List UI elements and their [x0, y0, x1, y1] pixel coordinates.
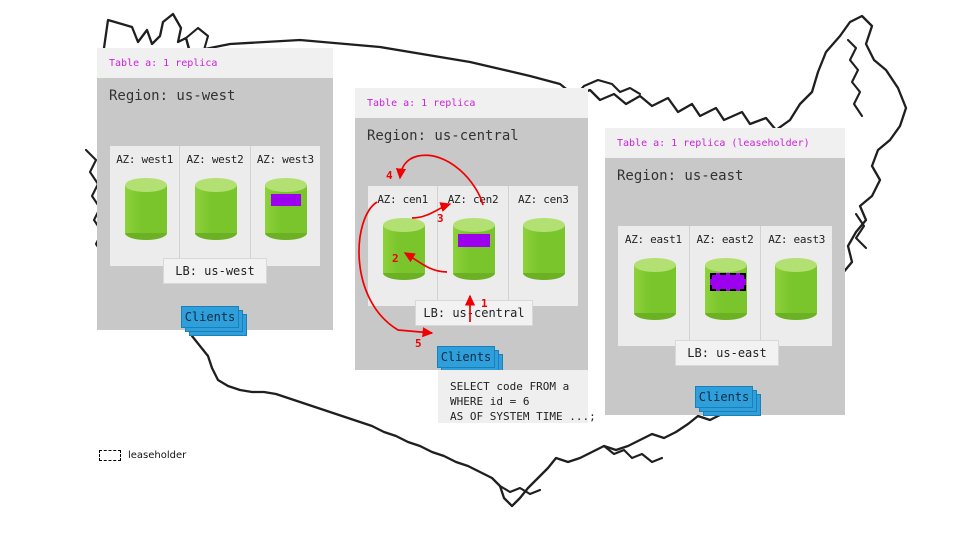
- clients-us-east[interactable]: Clients: [695, 386, 763, 418]
- cylinder-shine: [195, 185, 211, 233]
- legend-leaseholder: leaseholder: [99, 450, 186, 461]
- cylinder-east1[interactable]: [634, 258, 676, 320]
- replica-banner-us-east: Table a: 1 replica (leaseholder): [605, 128, 845, 158]
- clients-card-front[interactable]: Clients: [181, 306, 239, 328]
- cylinder-top: [125, 178, 167, 192]
- az-cell-west1[interactable]: AZ: west1: [110, 146, 180, 266]
- region-title-us-central: Region: us-central: [355, 118, 588, 144]
- diagram-canvas: Table a: 1 replica Region: us-west AZ: w…: [0, 0, 960, 540]
- arrow-number-2: 2: [392, 252, 399, 265]
- cylinder-top: [265, 178, 307, 192]
- cylinder-west1[interactable]: [125, 178, 167, 240]
- az-label-west2: AZ: west2: [180, 146, 249, 166]
- replica-banner-label: Table a: 1 replica (leaseholder): [605, 138, 810, 149]
- sql-query-box: SELECT code FROM a WHERE id = 6 AS OF SY…: [438, 370, 588, 423]
- region-title-us-west: Region: us-west: [97, 78, 333, 104]
- region-panel-us-east: Table a: 1 replica (leaseholder) Region:…: [605, 128, 845, 415]
- cylinder-top: [523, 218, 565, 232]
- replica-chunk-west3[interactable]: [271, 194, 301, 206]
- replica-banner-us-west: Table a: 1 replica: [97, 48, 333, 78]
- clients-us-west[interactable]: Clients: [181, 306, 249, 338]
- az-label-cen2: AZ: cen2: [438, 186, 507, 206]
- az-label-west3: AZ: west3: [251, 146, 320, 166]
- cylinder-west2[interactable]: [195, 178, 237, 240]
- az-cell-west2[interactable]: AZ: west2: [180, 146, 250, 266]
- cylinder-cen1[interactable]: [383, 218, 425, 280]
- cylinder-top: [195, 178, 237, 192]
- load-balancer-us-west[interactable]: LB: us-west: [163, 258, 267, 284]
- az-cell-cen1[interactable]: AZ: cen1: [368, 186, 438, 306]
- region-panel-us-west: Table a: 1 replica Region: us-west AZ: w…: [97, 48, 333, 330]
- cylinder-shine: [453, 225, 469, 273]
- cylinder-top: [453, 218, 495, 232]
- az-label-east3: AZ: east3: [761, 226, 832, 246]
- arrow-number-3: 3: [437, 212, 444, 225]
- cylinder-cen2[interactable]: [453, 218, 495, 280]
- az-container-us-east: AZ: east1 AZ: east2: [618, 226, 832, 346]
- cylinder-shine: [523, 225, 539, 273]
- cylinder-shine: [125, 185, 141, 233]
- az-label-cen3: AZ: cen3: [509, 186, 578, 206]
- region-body-us-central: Region: us-central AZ: cen1 AZ: cen2: [355, 118, 588, 370]
- cylinder-east3[interactable]: [775, 258, 817, 320]
- load-balancer-us-central[interactable]: LB: us-central: [415, 300, 533, 326]
- cylinder-shine: [265, 185, 281, 233]
- clients-card-front[interactable]: Clients: [695, 386, 753, 408]
- az-container-us-west: AZ: west1 AZ: west2: [110, 146, 320, 266]
- replica-banner-label: Table a: 1 replica: [97, 58, 217, 69]
- az-cell-cen3[interactable]: AZ: cen3: [509, 186, 578, 306]
- az-cell-cen2[interactable]: AZ: cen2: [438, 186, 508, 306]
- legend-label: leaseholder: [128, 450, 186, 461]
- cylinder-top: [383, 218, 425, 232]
- load-balancer-us-east[interactable]: LB: us-east: [675, 340, 779, 366]
- az-label-east1: AZ: east1: [618, 226, 689, 246]
- cylinder-east2[interactable]: [705, 258, 747, 320]
- az-label-cen1: AZ: cen1: [368, 186, 437, 206]
- cylinder-top: [634, 258, 676, 272]
- region-panel-us-central: Table a: 1 replica Region: us-central AZ…: [355, 88, 588, 370]
- az-cell-west3[interactable]: AZ: west3: [251, 146, 320, 266]
- cylinder-cen3[interactable]: [523, 218, 565, 280]
- cylinder-shine: [775, 265, 791, 313]
- az-cell-east1[interactable]: AZ: east1: [618, 226, 690, 346]
- cylinder-west3[interactable]: [265, 178, 307, 240]
- replica-chunk-east2-leaseholder[interactable]: [710, 273, 746, 291]
- replica-chunk-cen2[interactable]: [458, 234, 490, 247]
- cylinder-top: [705, 258, 747, 272]
- arrow-number-1: 1: [481, 297, 488, 310]
- replica-banner-label: Table a: 1 replica: [355, 98, 475, 109]
- arrow-number-5: 5: [415, 337, 422, 350]
- cylinder-shine: [383, 225, 399, 273]
- region-title-us-east: Region: us-east: [605, 158, 845, 184]
- az-label-east2: AZ: east2: [690, 226, 761, 246]
- dashed-rect-icon: [99, 450, 121, 461]
- replica-banner-us-central: Table a: 1 replica: [355, 88, 588, 118]
- region-body-us-west: Region: us-west AZ: west1 AZ: west2: [97, 78, 333, 330]
- region-body-us-east: Region: us-east AZ: east1 AZ: east2: [605, 158, 845, 415]
- cylinder-shine: [634, 265, 650, 313]
- az-container-us-central: AZ: cen1 AZ: cen2: [368, 186, 578, 306]
- clients-card-front[interactable]: Clients: [437, 346, 495, 368]
- az-label-west1: AZ: west1: [110, 146, 179, 166]
- arrow-number-4: 4: [386, 169, 393, 182]
- az-cell-east2[interactable]: AZ: east2: [690, 226, 762, 346]
- az-cell-east3[interactable]: AZ: east3: [761, 226, 832, 346]
